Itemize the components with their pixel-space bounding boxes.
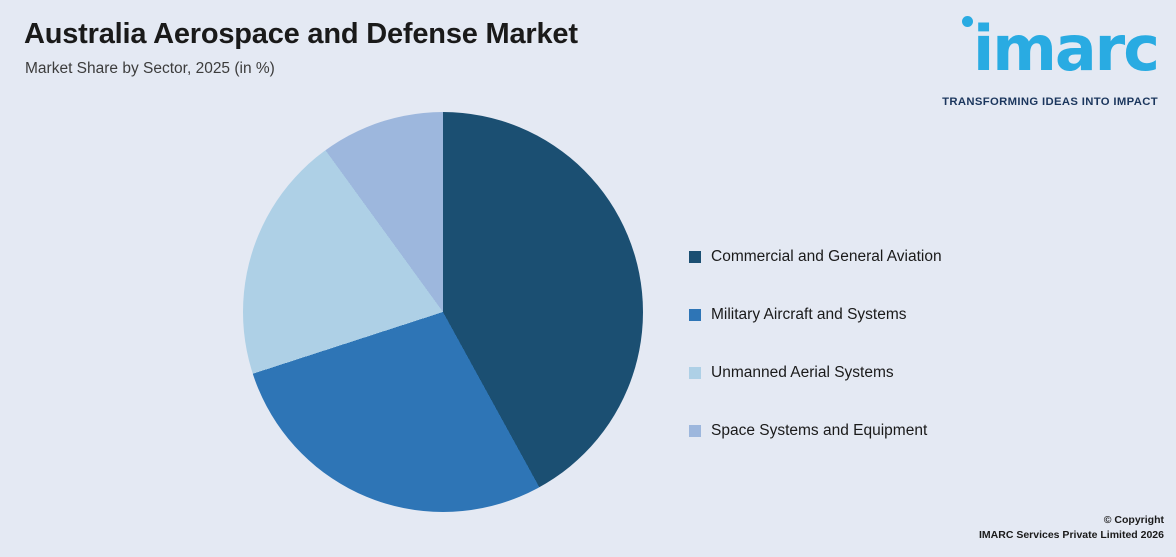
- logo-wordmark: imarc: [973, 18, 1158, 80]
- legend-item-label: Military Aircraft and Systems: [711, 306, 907, 324]
- legend-swatch-icon: [689, 251, 701, 263]
- legend-swatch-icon: [689, 367, 701, 379]
- pie-slices: [243, 112, 643, 512]
- logo-tagline: TRANSFORMING IDEAS INTO IMPACT: [942, 96, 1158, 108]
- copyright-line-1: © Copyright: [979, 513, 1164, 528]
- logo-dot-icon: [962, 16, 973, 27]
- legend-swatch-icon: [689, 309, 701, 321]
- legend-swatch-icon: [689, 425, 701, 437]
- imarc-logo: imarc TRANSFORMING IDEAS INTO IMPACT: [926, 8, 1166, 104]
- legend-item[interactable]: Space Systems and Equipment: [689, 402, 1109, 460]
- page-subtitle: Market Share by Sector, 2025 (in %): [25, 60, 275, 78]
- chart-page: Australia Aerospace and Defense Market M…: [0, 0, 1176, 557]
- legend-item-label: Unmanned Aerial Systems: [711, 364, 894, 382]
- legend-item-label: Space Systems and Equipment: [711, 422, 927, 440]
- legend-item[interactable]: Commercial and General Aviation: [689, 228, 1109, 286]
- pie-chart: [243, 112, 643, 512]
- copyright-line-2: IMARC Services Private Limited 2026: [979, 528, 1164, 543]
- copyright-notice: © Copyright IMARC Services Private Limit…: [979, 513, 1164, 543]
- legend-item[interactable]: Unmanned Aerial Systems: [689, 344, 1109, 402]
- legend-item-label: Commercial and General Aviation: [711, 248, 942, 266]
- chart-legend: Commercial and General AviationMilitary …: [689, 228, 1109, 460]
- legend-item[interactable]: Military Aircraft and Systems: [689, 286, 1109, 344]
- page-title: Australia Aerospace and Defense Market: [24, 18, 578, 51]
